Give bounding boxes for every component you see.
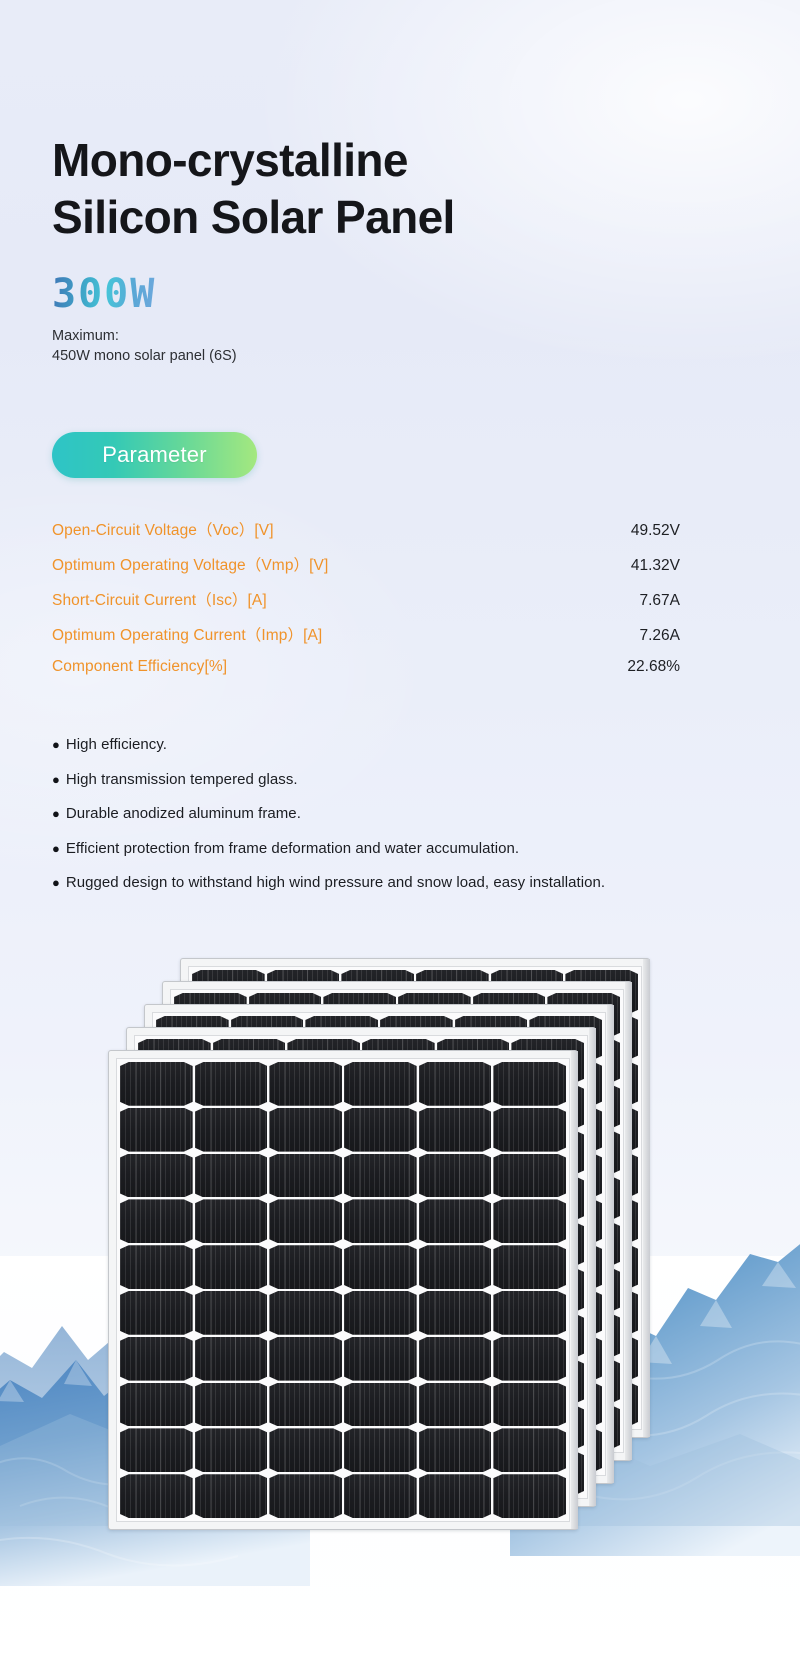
maximum-info: Maximum: 450W mono solar panel (6S) <box>52 326 237 366</box>
panel-frame-edge <box>643 959 650 1437</box>
bullet-dot-icon: ● <box>52 773 60 786</box>
solar-cell <box>269 1108 342 1152</box>
parameter-value: 7.67A <box>639 592 680 610</box>
solar-cell <box>120 1337 193 1381</box>
parameter-value: 49.52V <box>631 522 680 540</box>
maximum-value: 450W mono solar panel (6S) <box>52 346 237 366</box>
solar-cell-grid <box>116 1058 570 1522</box>
parameter-label: Short-Circuit Current（Isc）[A] <box>52 588 267 610</box>
solar-cell <box>195 1108 268 1152</box>
solar-panel-front <box>108 1050 578 1530</box>
solar-cell <box>419 1062 492 1106</box>
solar-cell <box>269 1245 342 1289</box>
solar-cell <box>344 1383 417 1427</box>
solar-cell <box>195 1062 268 1106</box>
solar-cell <box>419 1199 492 1243</box>
solar-cell <box>120 1383 193 1427</box>
panel-frame-edge <box>607 1005 614 1483</box>
parameter-label: Open-Circuit Voltage（Voc）[V] <box>52 518 274 540</box>
solar-cell <box>493 1245 566 1289</box>
bullet-dot-icon: ● <box>52 807 60 820</box>
solar-cell <box>419 1428 492 1472</box>
solar-cell <box>120 1245 193 1289</box>
solar-cell <box>120 1474 193 1518</box>
solar-cell <box>493 1108 566 1152</box>
list-item: ● High transmission tempered glass. <box>52 771 752 806</box>
solar-panel-stack-image <box>0 930 800 1570</box>
parameter-label: Component Efficiency[%] <box>52 658 227 676</box>
parameter-table: Open-Circuit Voltage（Voc）[V] 49.52V Opti… <box>52 518 680 693</box>
solar-cell <box>120 1291 193 1335</box>
solar-cell <box>344 1337 417 1381</box>
list-item: ● Rugged design to withstand high wind p… <box>52 874 752 909</box>
solar-cell <box>195 1474 268 1518</box>
table-row: Optimum Operating Current（Imp）[A] 7.26A <box>52 623 680 658</box>
solar-cell <box>120 1062 193 1106</box>
solar-cell <box>419 1154 492 1198</box>
solar-cell <box>493 1428 566 1472</box>
solar-cell <box>419 1337 492 1381</box>
feature-text: Rugged design to withstand high wind pre… <box>66 874 605 891</box>
bullet-dot-icon: ● <box>52 876 60 889</box>
parameter-value: 22.68% <box>627 658 680 676</box>
solar-cell <box>120 1154 193 1198</box>
feature-list: ● High efficiency. ● High transmission t… <box>52 736 752 909</box>
solar-cell <box>344 1428 417 1472</box>
page-title: Mono-crystalline Silicon Solar Panel <box>52 132 455 246</box>
solar-cell <box>195 1245 268 1289</box>
feature-text: Efficient protection from frame deformat… <box>66 840 519 857</box>
panel-frame-edge <box>589 1028 596 1506</box>
parameter-label: Optimum Operating Voltage（Vmp）[V] <box>52 553 328 575</box>
parameter-section-button[interactable]: Parameter <box>52 432 257 478</box>
solar-cell <box>195 1337 268 1381</box>
maximum-label: Maximum: <box>52 326 237 346</box>
solar-cell <box>344 1108 417 1152</box>
solar-cell <box>493 1291 566 1335</box>
panel-frame-edge <box>625 982 632 1460</box>
solar-cell <box>419 1108 492 1152</box>
parameter-button-label: Parameter <box>102 442 207 468</box>
solar-cell <box>269 1199 342 1243</box>
product-detail-page: Mono-crystalline Silicon Solar Panel 300… <box>0 0 800 1676</box>
solar-cell <box>493 1062 566 1106</box>
parameter-value: 41.32V <box>631 557 680 575</box>
solar-cell <box>419 1383 492 1427</box>
solar-cell <box>120 1199 193 1243</box>
feature-text: High transmission tempered glass. <box>66 771 298 788</box>
solar-cell <box>195 1291 268 1335</box>
solar-cell <box>493 1383 566 1427</box>
solar-cell <box>269 1154 342 1198</box>
panel-frame-edge <box>571 1051 578 1529</box>
title-line-1: Mono-crystalline <box>52 134 408 186</box>
solar-cell <box>419 1474 492 1518</box>
bullet-dot-icon: ● <box>52 842 60 855</box>
solar-cell <box>344 1474 417 1518</box>
table-row: Short-Circuit Current（Isc）[A] 7.67A <box>52 588 680 623</box>
feature-text: High efficiency. <box>66 736 167 753</box>
table-row: Optimum Operating Voltage（Vmp）[V] 41.32V <box>52 553 680 588</box>
solar-cell <box>493 1199 566 1243</box>
parameter-label: Optimum Operating Current（Imp）[A] <box>52 623 322 645</box>
solar-cell <box>195 1154 268 1198</box>
solar-cell <box>269 1383 342 1427</box>
solar-cell <box>419 1291 492 1335</box>
solar-cell <box>195 1383 268 1427</box>
bullet-dot-icon: ● <box>52 738 60 751</box>
list-item: ● Durable anodized aluminum frame. <box>52 805 752 840</box>
solar-cell <box>269 1428 342 1472</box>
solar-cell <box>419 1245 492 1289</box>
table-row: Open-Circuit Voltage（Voc）[V] 49.52V <box>52 518 680 553</box>
solar-cell <box>493 1337 566 1381</box>
solar-cell <box>344 1154 417 1198</box>
title-line-2: Silicon Solar Panel <box>52 189 455 246</box>
solar-cell <box>269 1474 342 1518</box>
wattage-badge: 300W <box>52 272 156 316</box>
solar-cell <box>120 1108 193 1152</box>
list-item: ● High efficiency. <box>52 736 752 771</box>
solar-cell <box>344 1062 417 1106</box>
solar-cell <box>344 1199 417 1243</box>
solar-cell <box>344 1291 417 1335</box>
solar-cell <box>269 1062 342 1106</box>
solar-cell <box>269 1291 342 1335</box>
solar-cell <box>195 1428 268 1472</box>
solar-cell <box>195 1199 268 1243</box>
solar-cell <box>269 1337 342 1381</box>
solar-cell <box>493 1474 566 1518</box>
list-item: ● Efficient protection from frame deform… <box>52 840 752 875</box>
solar-cell <box>120 1428 193 1472</box>
parameter-value: 7.26A <box>639 627 680 645</box>
table-row: Component Efficiency[%] 22.68% <box>52 658 680 693</box>
solar-cell <box>344 1245 417 1289</box>
solar-cell <box>493 1154 566 1198</box>
feature-text: Durable anodized aluminum frame. <box>66 805 301 822</box>
